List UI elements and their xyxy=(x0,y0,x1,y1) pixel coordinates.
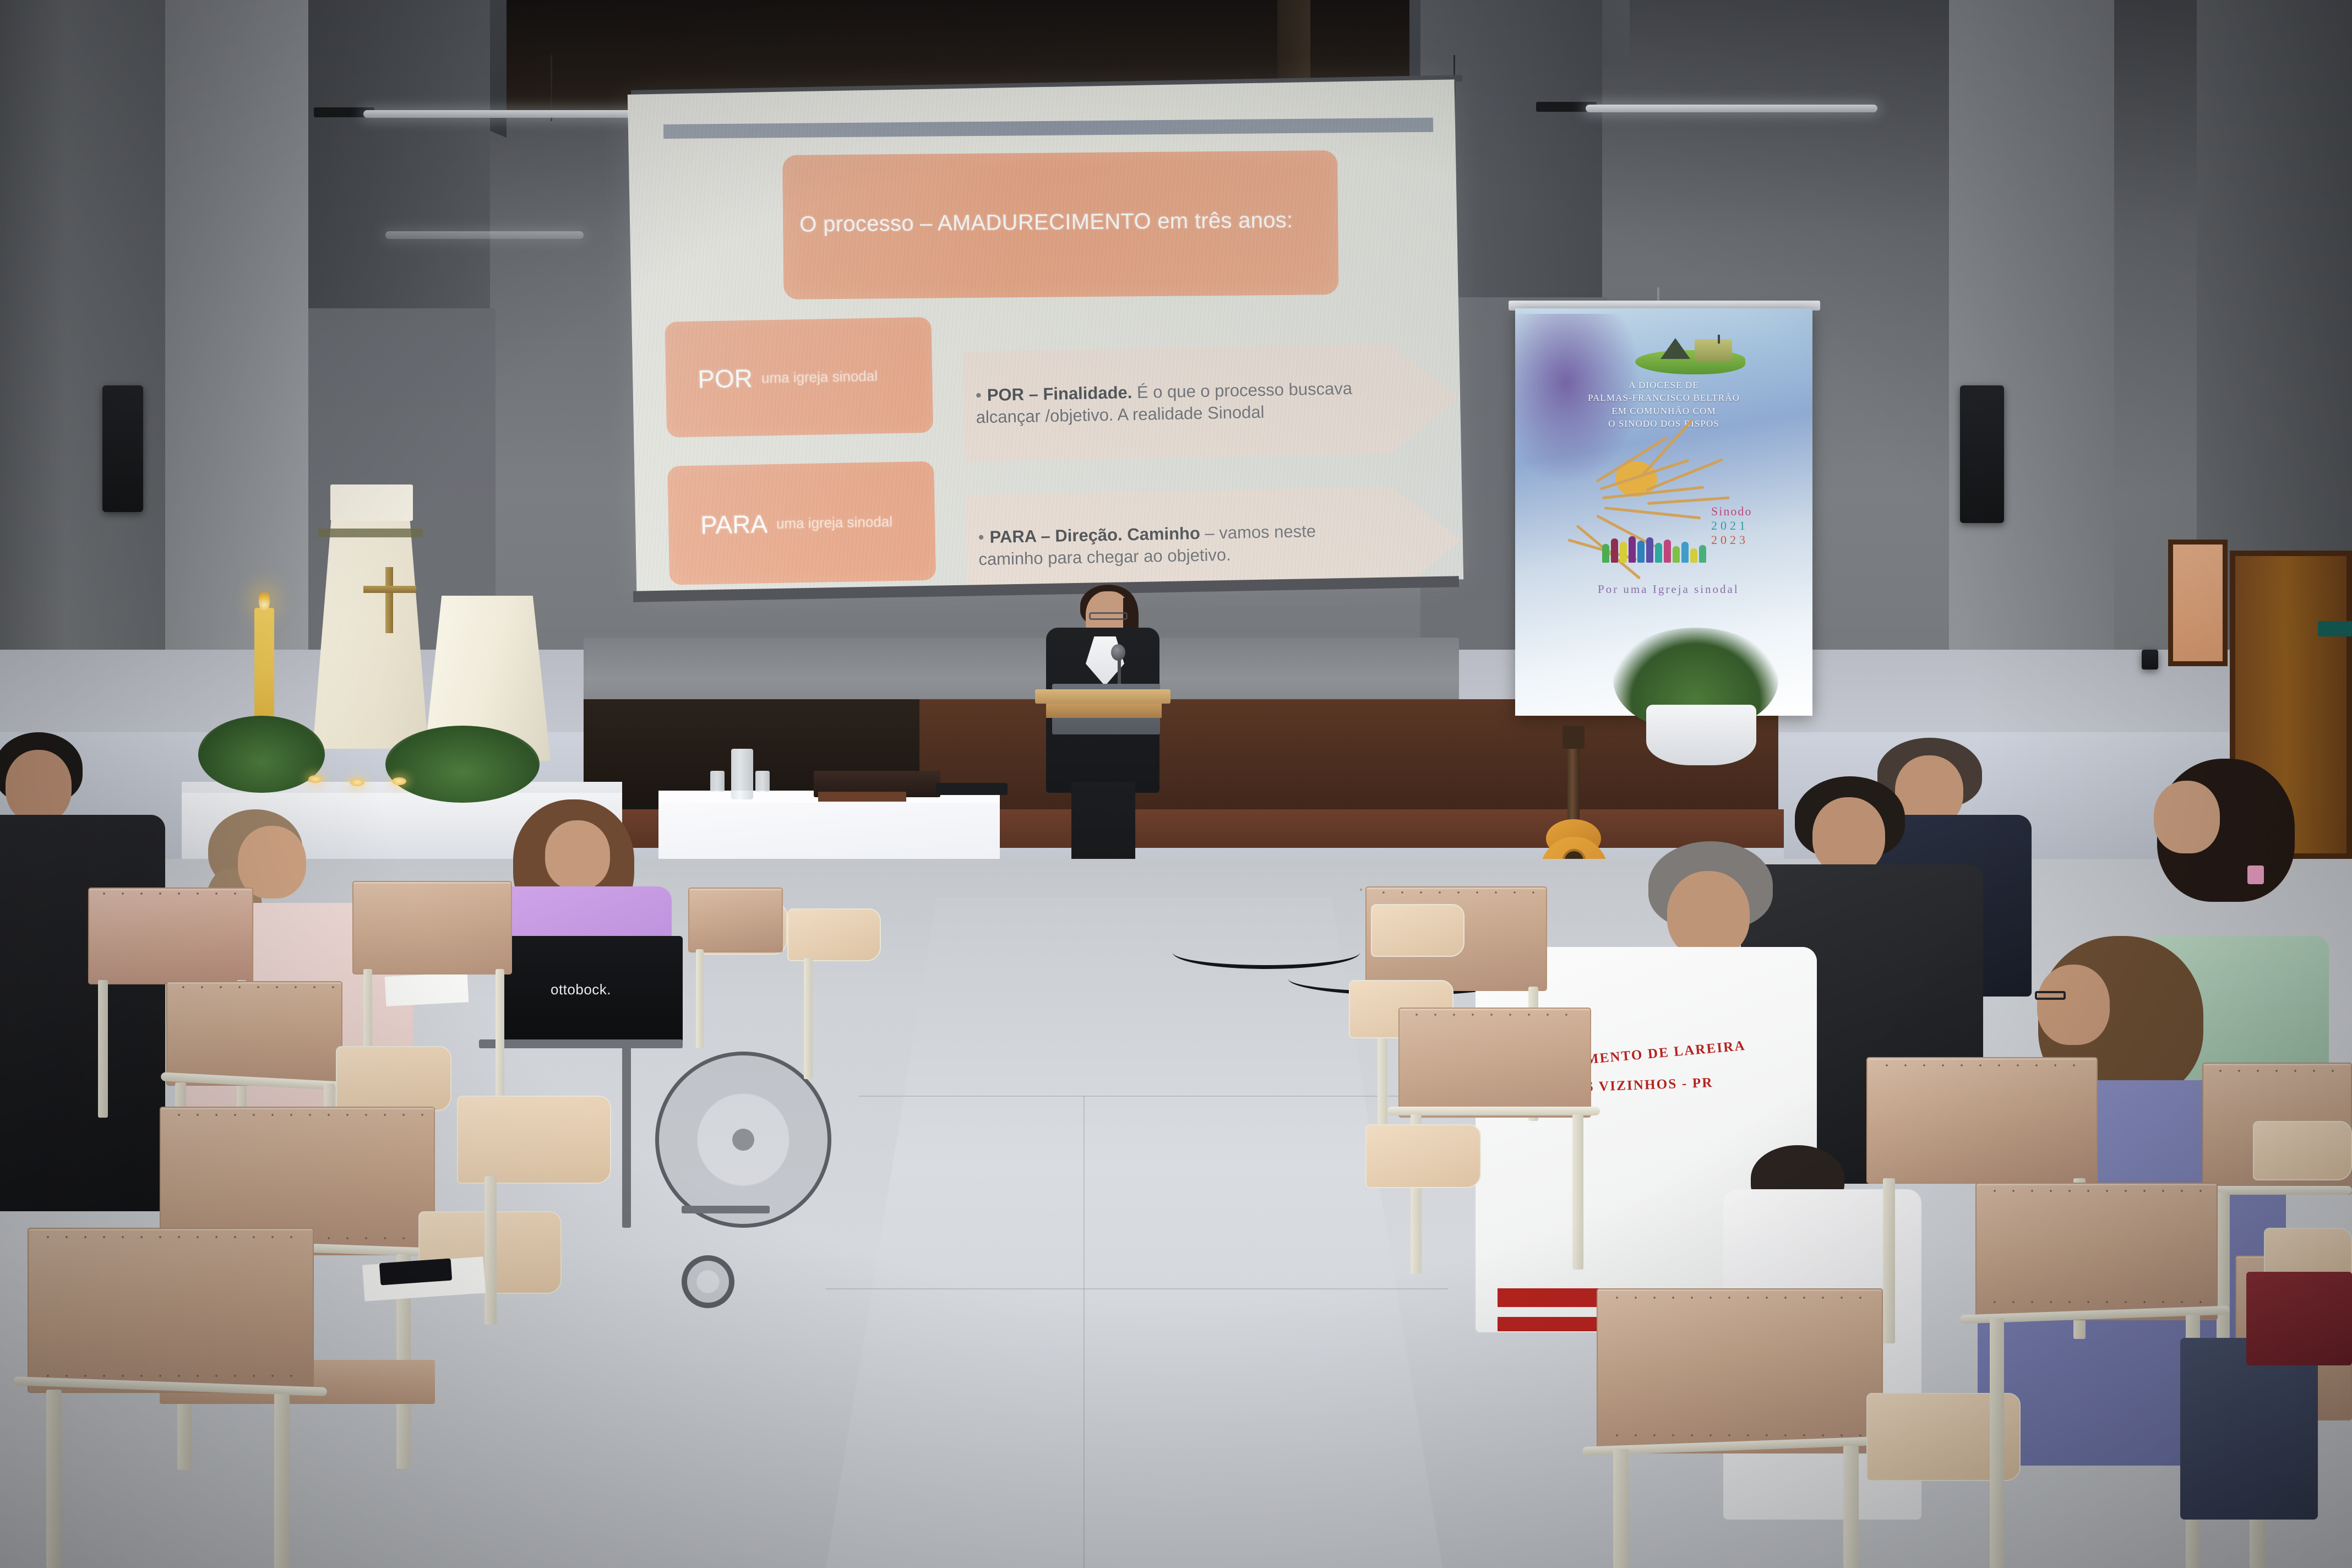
tealight xyxy=(392,777,406,785)
presentation-slide: O processo – AMADURECIMENTO em três anos… xyxy=(628,79,1463,594)
bullet-para-bold: PARA – Direção. Caminho xyxy=(989,524,1200,547)
tower-icon xyxy=(1718,335,1720,344)
floor-tile-seam xyxy=(1084,1096,1085,1568)
wheelchair-brand-label: ottobock. xyxy=(551,981,611,998)
classroom-scene: O processo – AMADURECIMENTO em três anos… xyxy=(0,0,2352,1568)
red-bag xyxy=(2246,1272,2352,1365)
hair-clip xyxy=(2247,865,2264,884)
synod-logo-word: Sinodo xyxy=(1711,504,1805,519)
presenter-glasses-icon xyxy=(1089,612,1128,620)
banner-slogan: Por uma Igreja sinodal xyxy=(1598,582,1812,596)
book xyxy=(818,792,906,802)
synod-logo-year-end: 2023 xyxy=(1711,533,1805,547)
label-para-small: uma igreja sinodal xyxy=(776,513,893,532)
banner-heading-line-1: A DIOCESE DE xyxy=(1537,379,1790,391)
floor-cable xyxy=(1173,936,1360,969)
bullet-por-bold: POR – Finalidade. xyxy=(987,383,1132,405)
label-para-big: PARA xyxy=(700,509,768,540)
bullet-marker: • xyxy=(978,527,984,547)
slide-label-por: POR uma igreja sinodal xyxy=(665,317,933,438)
attendee-glasses-icon xyxy=(2035,991,2066,1000)
bullet-marker: • xyxy=(976,385,982,405)
ceiling-tube-light-far xyxy=(385,231,584,239)
altar-drape-band xyxy=(318,529,423,537)
projection-screen: O processo – AMADURECIMENTO em três anos… xyxy=(628,79,1463,594)
synod-logo-year-start: 2021 xyxy=(1711,519,1805,533)
microphone-icon xyxy=(1111,644,1125,661)
hill-icon xyxy=(1660,338,1690,359)
floor-tile-seam xyxy=(859,1096,1415,1097)
wall-speaker-left xyxy=(102,385,143,512)
label-por-small: uma igreja sinodal xyxy=(761,367,878,386)
podium-top xyxy=(1035,689,1170,704)
banner-heading-line-4: O SINODO DOS BISPOS xyxy=(1537,417,1790,430)
ceiling-tube-light-right xyxy=(1586,105,1877,112)
banner-heading: A DIOCESE DE PALMAS-FRANCISCO BELTRÃO EM… xyxy=(1537,379,1790,431)
altar-bible xyxy=(330,484,413,521)
church-icon xyxy=(1695,339,1732,361)
candle-flame-icon xyxy=(259,590,270,611)
banner-heading-line-3: EM COMUNHÃO COM xyxy=(1537,405,1790,417)
device-on-table xyxy=(936,783,1008,795)
slide-bullet-por: •POR – Finalidade. É o que o processo bu… xyxy=(962,342,1460,461)
banner-synod-logo: Sinodo 2021 2023 xyxy=(1711,504,1805,547)
slide-label-para: PARA uma igreja sinodal xyxy=(667,461,936,585)
plant-pot xyxy=(1646,705,1756,765)
podium-apron xyxy=(1046,704,1162,718)
people-walking-icon xyxy=(1602,533,1712,563)
mic-stand-head xyxy=(2142,650,2158,669)
ceiling-tube-light-left xyxy=(363,110,672,118)
guitar-headstock xyxy=(1562,726,1585,749)
label-por-big: POR xyxy=(698,363,753,394)
tealight xyxy=(350,778,364,786)
door-transom-window xyxy=(2168,540,2228,666)
altar-cross-arm xyxy=(363,586,416,593)
door-sign xyxy=(2318,621,2352,636)
wheelchair-caster xyxy=(682,1255,734,1308)
wheelchair-frame xyxy=(479,1039,683,1048)
tealight xyxy=(308,775,323,783)
altar-plant xyxy=(385,726,540,803)
slide-title: O processo – AMADURECIMENTO em três anos… xyxy=(799,208,1328,237)
water-pitcher xyxy=(731,749,753,799)
banner-heading-line-2: PALMAS-FRANCISCO BELTRÃO xyxy=(1537,391,1790,404)
slide-top-rule xyxy=(663,118,1433,139)
notepad xyxy=(385,972,469,1006)
wall-speaker-right xyxy=(1960,385,2004,523)
floor-tile-seam xyxy=(826,1288,1448,1289)
wheelchair-hub xyxy=(732,1129,754,1151)
altar-plant xyxy=(198,716,325,793)
wheelchair-footplate xyxy=(682,1206,770,1213)
drinking-glass xyxy=(755,771,770,792)
banner-diocese-illustration xyxy=(1635,335,1761,374)
slide-title-pill: O processo – AMADURECIMENTO em três anos… xyxy=(782,150,1338,300)
wheelchair-frame xyxy=(622,1046,631,1228)
altar-cross xyxy=(385,567,393,633)
drinking-glass xyxy=(710,771,725,792)
